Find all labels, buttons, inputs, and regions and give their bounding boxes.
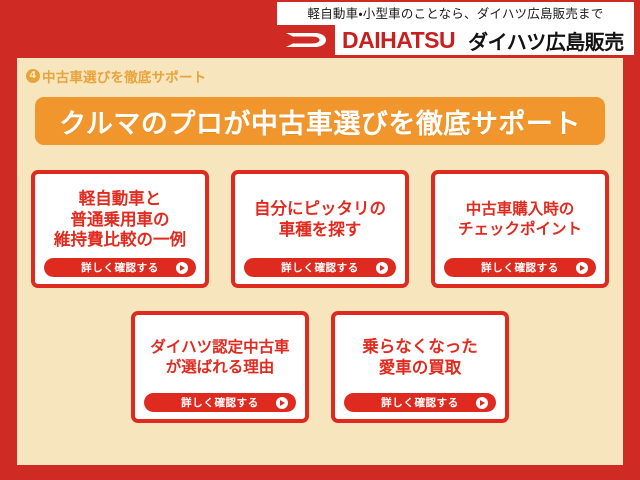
card-maintenance-cost-comparison[interactable]: 軽自動車と 普通乗用車の 維持費比較の一例 詳しく確認する [31, 170, 209, 288]
page-root: 軽自動車・小型車のことなら、ダイハツ広島販売まで DAIHATSU ダイハツ広島… [0, 0, 640, 480]
cta-label: 詳しく確認する [81, 260, 159, 275]
card-title: 乗らなくなった 愛車の買取 [358, 323, 482, 393]
brand-logo-row[interactable]: DAIHATSU ダイハツ広島販売 [277, 25, 634, 55]
cta-button[interactable]: 詳しく確認する [444, 258, 596, 277]
dealer-name: ダイハツ広島販売 [468, 26, 624, 55]
play-arrow-circle-icon [476, 397, 488, 409]
header-white-plate: 軽自動車・小型車のことなら、ダイハツ広島販売まで DAIHATSU ダイハツ広島… [277, 2, 634, 55]
cta-button[interactable]: 詳しく確認する [44, 258, 196, 277]
card-title: 軽自動車と 普通乗用車の 維持費比較の一例 [50, 182, 190, 258]
card-title: 中古車購入時の チェックポイント [454, 182, 586, 258]
cta-label: 詳しく確認する [181, 395, 259, 410]
play-arrow-circle-icon [376, 262, 388, 274]
cta-label: 詳しく確認する [381, 395, 459, 410]
section-kicker: 4 中古車選びを徹底サポート [26, 66, 206, 86]
card-title: 自分にピッタリの 車種を探す [250, 182, 390, 258]
card-row-1: 軽自動車と 普通乗用車の 維持費比較の一例 詳しく確認する 自分にピッタリの 車… [17, 170, 623, 288]
site-header: 軽自動車・小型車のことなら、ダイハツ広島販売まで DAIHATSU ダイハツ広島… [0, 0, 640, 58]
section-title-bar: クルマのプロが中古車選びを徹底サポート [35, 97, 605, 145]
content-panel: 4 中古車選びを徹底サポート クルマのプロが中古車選びを徹底サポート 軽自動車と… [17, 58, 623, 465]
cta-label: 詳しく確認する [281, 260, 359, 275]
card-certified-used-car-reasons[interactable]: ダイハツ認定中古車 が選ばれる理由 詳しく確認する [131, 311, 309, 423]
cta-button[interactable]: 詳しく確認する [144, 393, 296, 412]
section-kicker-label: 中古車選びを徹底サポート [42, 66, 206, 86]
play-arrow-circle-icon [276, 397, 288, 409]
daihatsu-wordmark: DAIHATSU [342, 27, 455, 54]
card-car-buyback[interactable]: 乗らなくなった 愛車の買取 詳しく確認する [331, 311, 509, 423]
cta-button[interactable]: 詳しく確認する [244, 258, 396, 277]
card-row-2: ダイハツ認定中古車 が選ばれる理由 詳しく確認する 乗らなくなった 愛車の買取 … [17, 311, 623, 423]
daihatsu-d-emblem-icon [277, 25, 335, 55]
card-title: ダイハツ認定中古車 が選ばれる理由 [146, 323, 293, 393]
card-purchase-checkpoints[interactable]: 中古車購入時の チェックポイント 詳しく確認する [431, 170, 609, 288]
play-arrow-circle-icon [576, 262, 588, 274]
header-tagline: 軽自動車・小型車のことなら、ダイハツ広島販売まで [283, 4, 628, 24]
cta-label: 詳しく確認する [481, 260, 559, 275]
play-arrow-circle-icon [176, 262, 188, 274]
cta-button[interactable]: 詳しく確認する [344, 393, 496, 412]
card-find-your-model[interactable]: 自分にピッタリの 車種を探す 詳しく確認する [231, 170, 409, 288]
section-number-badge: 4 [26, 69, 40, 83]
page-title: クルマのプロが中古車選びを徹底サポート [59, 102, 581, 141]
